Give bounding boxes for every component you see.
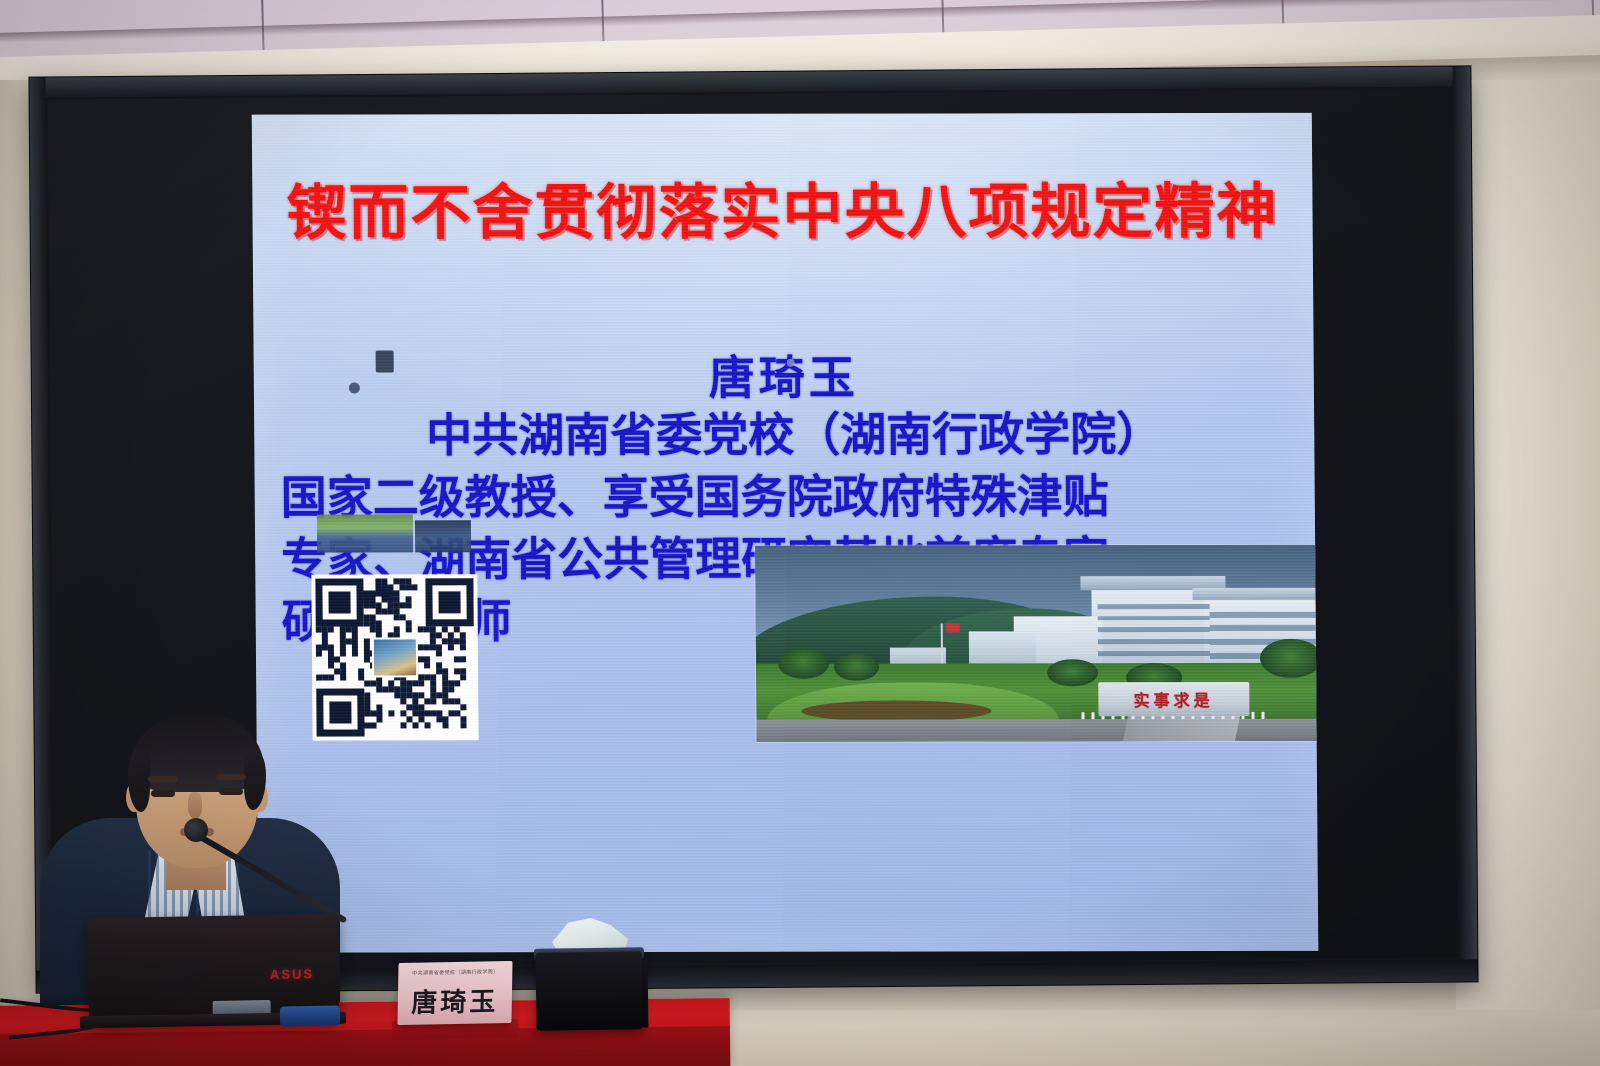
qr-module <box>460 704 466 710</box>
qr-module <box>460 656 466 662</box>
photo-window-row <box>1209 625 1316 631</box>
slide-speaker-name: 唐琦玉 <box>254 341 1315 409</box>
projected-slide: 锲而不舍贯彻落实中央八项规定精神 唐琦玉 中共湖南省委党校（湖南行政学院） 国家… <box>252 113 1319 953</box>
slide-thumbnail-image <box>415 520 471 552</box>
slide-artifact-icon <box>376 350 394 372</box>
desk-nameplate: 中共湖南省委党校（湖南行政学院） 唐琦玉 <box>397 961 512 1025</box>
qr-module <box>425 722 431 728</box>
presenter-nose <box>188 792 202 818</box>
qr-module <box>328 675 334 681</box>
qr-module <box>413 722 419 728</box>
presentation-room-photo: 锲而不舍贯彻落实中央八项规定精神 唐琦玉 中共湖南省委党校（湖南行政学院） 国家… <box>0 0 1600 1066</box>
qr-center-avatar <box>372 637 418 677</box>
qr-module <box>406 602 412 608</box>
qr-module <box>448 686 454 692</box>
photo-window-row <box>1097 627 1209 632</box>
qr-module <box>436 650 442 656</box>
tissue-box <box>535 951 642 1030</box>
slide-title: 锲而不舍贯彻落实中央八项规定精神 <box>252 163 1313 252</box>
photo-window-row <box>1097 616 1209 621</box>
qr-module <box>388 710 394 716</box>
photo-window-row <box>1097 604 1209 609</box>
photo-tree <box>1260 639 1317 678</box>
affiliation-line: 中共湖南省委党校（湖南行政学院） <box>274 403 1295 467</box>
photo-window-row <box>1209 611 1316 617</box>
slide-thumbnail-image <box>317 514 413 552</box>
presenter-eyebrow <box>148 776 178 782</box>
qr-module <box>461 722 467 728</box>
qr-module <box>454 680 460 686</box>
qr-module <box>430 698 436 704</box>
nameplate-name: 唐琦玉 <box>398 981 513 1020</box>
wall-right-panel <box>1456 80 1600 1066</box>
qr-module <box>371 722 377 728</box>
qr-module <box>460 644 466 650</box>
qr-module <box>460 674 466 680</box>
qr-module <box>340 651 346 657</box>
nameplate-subtitle: 中共湖南省委党校（湖南行政学院） <box>398 968 512 977</box>
qr-finder-icon <box>315 578 363 626</box>
photo-building-roof <box>1192 588 1316 600</box>
photo-tree <box>1047 659 1098 687</box>
presenter-eyebrow <box>216 774 246 780</box>
qr-module <box>352 650 358 656</box>
qr-finder-icon <box>425 578 473 626</box>
qr-module <box>418 680 424 686</box>
slide-artifact-dot <box>787 359 795 367</box>
photo-stone-monument: 实事求是 <box>1098 682 1249 716</box>
table-cloth-front <box>0 1026 730 1066</box>
qr-module <box>448 644 454 650</box>
qr-module <box>443 722 449 728</box>
qr-module <box>316 651 322 657</box>
photo-flag <box>946 624 960 633</box>
presenter-eye <box>151 790 175 797</box>
qr-module <box>401 722 407 728</box>
monument-calligraphy-text: 实事求是 <box>1133 686 1213 711</box>
photo-window-row <box>1098 651 1210 656</box>
photo-window-row <box>1097 639 1209 644</box>
affiliation-line: 国家二级教授、享受国务院政府特殊津贴 <box>274 465 1295 529</box>
campus-photo: 实事求是 <box>755 545 1317 742</box>
qr-module <box>424 662 430 668</box>
qr-module <box>376 716 382 722</box>
microphone-head-icon <box>184 818 208 842</box>
blue-device <box>280 1005 340 1026</box>
photo-tree <box>778 648 829 679</box>
qr-module <box>411 584 417 590</box>
qr-module <box>328 627 334 633</box>
qr-module <box>406 626 412 632</box>
presenter-eye <box>219 788 243 795</box>
qr-module <box>340 675 346 681</box>
laptop-brand-logo: ASUS <box>270 966 314 982</box>
slide-artifact-dot <box>349 382 360 393</box>
